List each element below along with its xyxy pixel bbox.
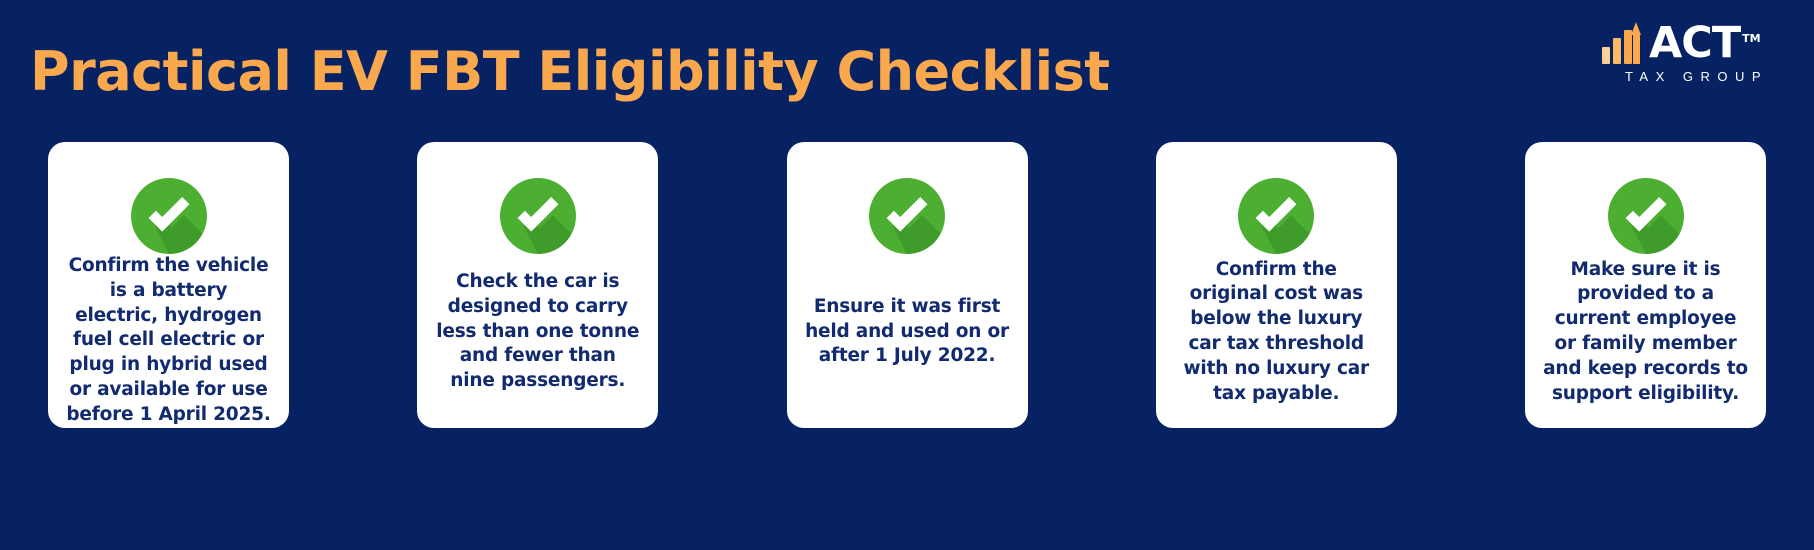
green-check-circle-icon [869,178,945,254]
act-tax-group-logo: ACTTM TAX GROUP [1600,18,1786,90]
logo-name: ACTTM [1649,23,1761,64]
checklist-card: Ensure it was first held and used on or … [787,142,1028,428]
logo-bar-2 [1613,38,1621,64]
checklist-card-text: Ensure it was first held and used on or … [803,295,1012,369]
checklist-card: Confirm the original cost was below the … [1156,142,1397,428]
logo-bar-1 [1602,47,1610,64]
checklist-card: Make sure it is provided to a current em… [1525,142,1766,428]
checklist-card-text: Make sure it is provided to a current em… [1541,258,1750,407]
logo-up-arrow-icon [1631,22,1642,64]
logo-name-text: ACT [1649,18,1740,68]
checklist-card-text: Confirm the vehicle is a battery electri… [64,254,273,427]
page-title: Practical EV FBT Eligibility Checklist [30,40,1110,103]
bar-chart-arrow-icon [1600,22,1646,64]
checklist-card-text: Check the car is designed to carry less … [433,270,642,394]
logo-wordmark-row: ACTTM [1600,18,1786,64]
green-check-circle-icon [1608,178,1684,254]
arrow-stem [1633,34,1640,64]
trademark-symbol: TM [1742,32,1760,45]
infographic-root: Practical EV FBT Eligibility Checklist A… [0,0,1814,550]
checklist-card-text: Confirm the original cost was below the … [1172,258,1381,407]
green-check-circle-icon [131,178,207,254]
checklist-card: Check the car is designed to carry less … [417,142,658,428]
green-check-circle-icon [500,178,576,254]
header: Practical EV FBT Eligibility Checklist A… [0,0,1814,130]
checklist-cards: Confirm the vehicle is a battery electri… [48,142,1766,428]
logo-tagline: TAX GROUP [1600,69,1786,84]
checklist-card: Confirm the vehicle is a battery electri… [48,142,289,428]
green-check-circle-icon [1238,178,1314,254]
